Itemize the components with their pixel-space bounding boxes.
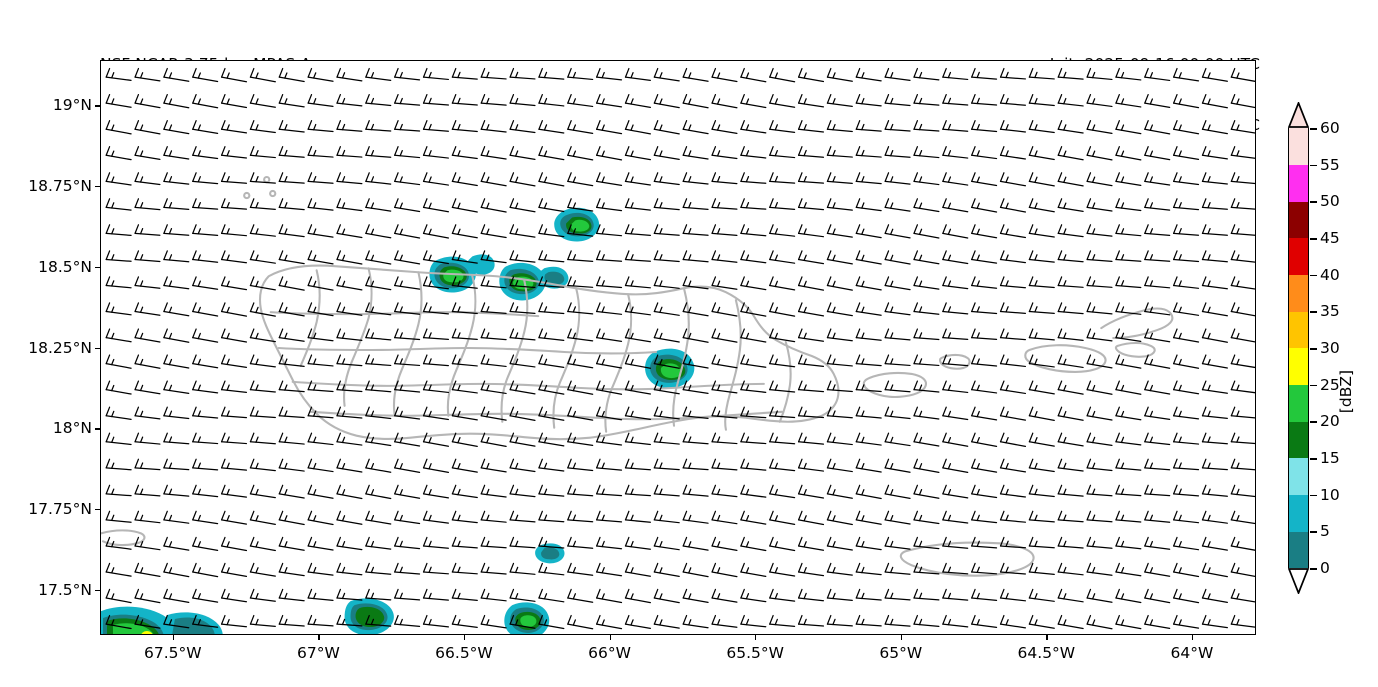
x-tick-label: 67.5°W xyxy=(144,644,202,662)
x-tick-label: 66.5°W xyxy=(435,644,493,662)
colorbar-bands xyxy=(1288,128,1309,568)
x-tick xyxy=(1192,635,1193,640)
x-tick xyxy=(464,635,465,640)
colorbar-tick xyxy=(1310,165,1317,167)
y-tick-label: 18.5°N xyxy=(38,258,92,276)
colorbar-tick xyxy=(1310,275,1317,277)
colorbar-band xyxy=(1288,311,1309,348)
y-tick xyxy=(95,186,100,187)
colorbar-tick xyxy=(1310,458,1317,460)
x-tick-label: 66°W xyxy=(588,644,631,662)
colorbar-band xyxy=(1288,348,1309,385)
colorbar-tick xyxy=(1310,238,1317,240)
colorbar-tick xyxy=(1310,385,1317,387)
colorbar-tick xyxy=(1310,531,1317,533)
y-tick-label: 17.75°N xyxy=(28,500,92,518)
colorbar-band xyxy=(1288,458,1309,495)
colorbar-tick xyxy=(1310,128,1317,130)
y-tick-label: 19°N xyxy=(53,96,92,114)
y-tick xyxy=(95,509,100,510)
colorbar-under-arrow xyxy=(1288,568,1309,594)
x-tick xyxy=(610,635,611,640)
y-tick xyxy=(95,267,100,268)
colorbar-tick xyxy=(1310,421,1317,423)
y-tick-label: 18°N xyxy=(53,419,92,437)
x-tick xyxy=(1046,635,1047,640)
y-tick xyxy=(95,348,100,349)
y-tick-label: 18.25°N xyxy=(28,339,92,357)
y-tick xyxy=(95,428,100,429)
x-tick-label: 64.5°W xyxy=(1018,644,1076,662)
wind-barb-layer xyxy=(101,61,1255,634)
x-tick-label: 67°W xyxy=(297,644,340,662)
colorbar-tick-label: 0 xyxy=(1320,559,1330,577)
x-tick-label: 65.5°W xyxy=(726,644,784,662)
colorbar-tick-label: 40 xyxy=(1320,266,1340,284)
colorbar-band xyxy=(1288,275,1309,312)
x-tick-label: 64°W xyxy=(1171,644,1214,662)
colorbar-band xyxy=(1288,531,1309,568)
colorbar-title: [dBZ] xyxy=(1337,370,1355,413)
y-tick xyxy=(95,590,100,591)
colorbar-over-arrow xyxy=(1288,102,1309,128)
x-tick xyxy=(318,635,319,640)
colorbar-band xyxy=(1288,238,1309,275)
map-plot-area xyxy=(100,60,1256,635)
colorbar-tick xyxy=(1310,201,1317,203)
colorbar-tick-label: 15 xyxy=(1320,449,1340,467)
colorbar-tick xyxy=(1310,311,1317,313)
y-tick xyxy=(95,105,100,106)
colorbar-tick-label: 30 xyxy=(1320,339,1340,357)
colorbar-band xyxy=(1288,421,1309,458)
colorbar-band xyxy=(1288,201,1309,238)
colorbar-band xyxy=(1288,385,1309,422)
colorbar-tick-label: 45 xyxy=(1320,229,1340,247)
colorbar-band xyxy=(1288,165,1309,202)
colorbar-tick xyxy=(1310,495,1317,497)
colorbar-band xyxy=(1288,495,1309,532)
colorbar-tick-label: 60 xyxy=(1320,119,1340,137)
x-tick xyxy=(173,635,174,640)
colorbar-tick-label: 35 xyxy=(1320,302,1340,320)
colorbar-tick-label: 5 xyxy=(1320,522,1330,540)
colorbar-band xyxy=(1288,128,1309,165)
colorbar-tick-label: 20 xyxy=(1320,412,1340,430)
colorbar-tick-label: 50 xyxy=(1320,192,1340,210)
y-tick-label: 18.75°N xyxy=(28,177,92,195)
colorbar-tick-label: 55 xyxy=(1320,156,1340,174)
weather-map-figure: NSF NCAR 3.75-km MPAS-A Reflectivity at … xyxy=(0,0,1378,687)
x-tick-label: 65°W xyxy=(879,644,922,662)
colorbar-tick-label: 10 xyxy=(1320,486,1340,504)
x-tick xyxy=(755,635,756,640)
x-tick xyxy=(901,635,902,640)
colorbar-tick xyxy=(1310,568,1317,570)
colorbar-tick xyxy=(1310,348,1317,350)
y-tick-label: 17.5°N xyxy=(38,581,92,599)
